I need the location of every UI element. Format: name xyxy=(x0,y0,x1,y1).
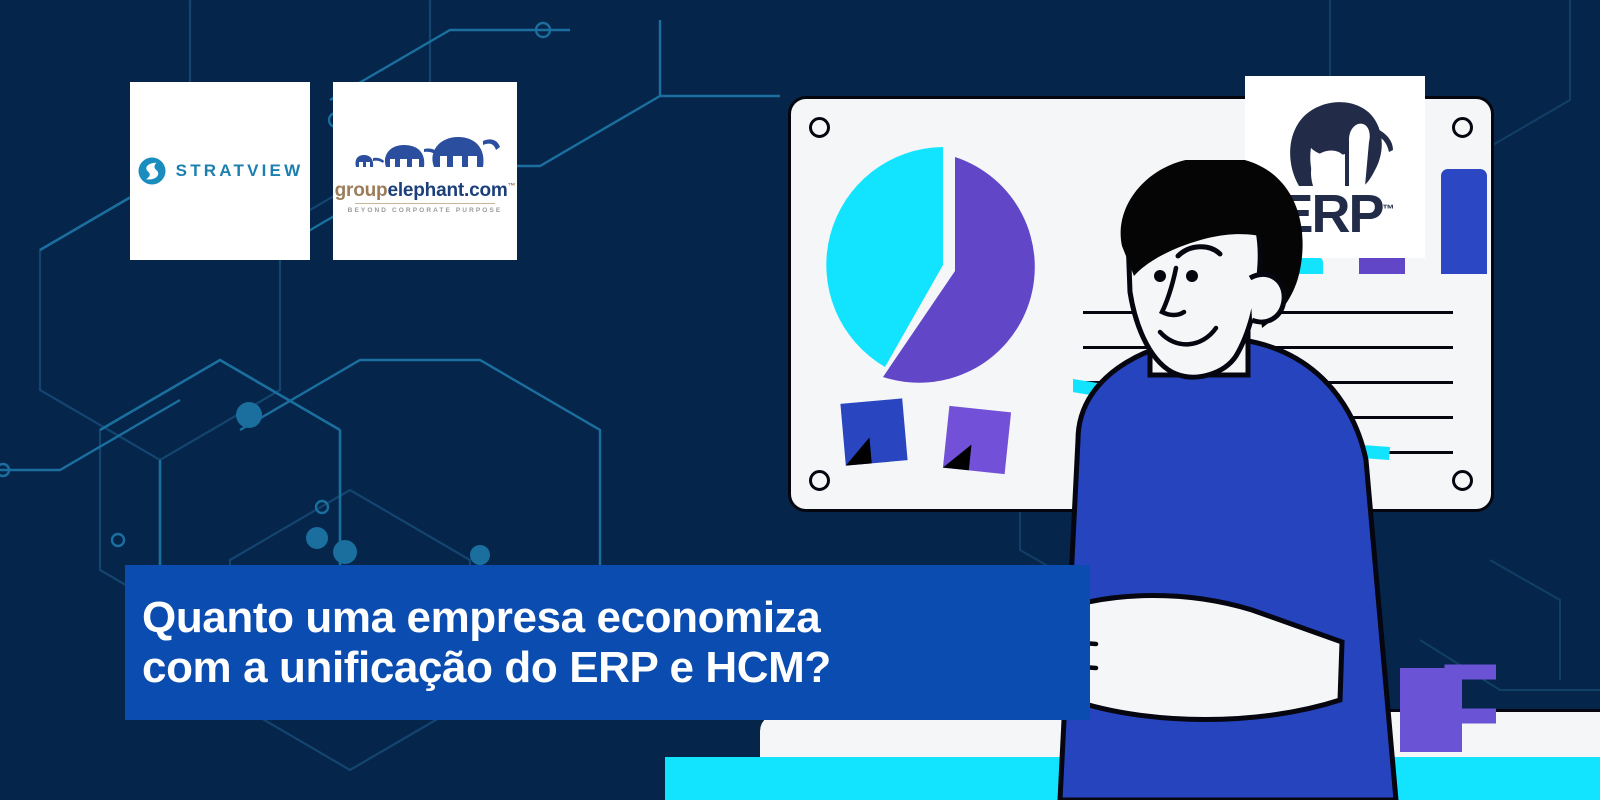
groupelephant-wordmark: groupelephant.com™ xyxy=(335,181,516,200)
screw-bottom-left-icon xyxy=(809,470,830,491)
person-torso xyxy=(1060,338,1396,800)
stratview-wordmark: STRATVIEW xyxy=(176,161,304,181)
sticky-note-blue xyxy=(840,398,907,465)
person-eye-right xyxy=(1186,270,1198,282)
screw-top-left-icon xyxy=(809,117,830,138)
stratview-logo-card: STRATVIEW xyxy=(130,82,310,260)
hero-banner: STRATVIEW groupelephant.com™ BEYOND CORP… xyxy=(0,0,1600,800)
headline-banner: Quanto uma empresa economiza com a unifi… xyxy=(125,565,1090,720)
sticky-note-fold-icon xyxy=(844,437,872,465)
groupelephant-logo-card: groupelephant.com™ BEYOND CORPORATE PURP… xyxy=(333,82,517,260)
headline-line-2: com a unificação do ERP e HCM? xyxy=(142,643,1090,692)
bar-chart-bar-3 xyxy=(1441,169,1487,274)
sticky-note-fold-icon xyxy=(943,442,972,471)
person-ear xyxy=(1250,274,1284,322)
screw-top-right-icon xyxy=(1452,117,1473,138)
groupelephant-tagline: BEYOND CORPORATE PURPOSE xyxy=(348,207,503,214)
three-elephants-icon xyxy=(350,129,500,177)
divider xyxy=(355,203,495,204)
person-eye-left xyxy=(1154,270,1166,282)
stratview-s-mark-icon xyxy=(137,156,167,186)
headline-line-1: Quanto uma empresa economiza xyxy=(142,593,1090,642)
